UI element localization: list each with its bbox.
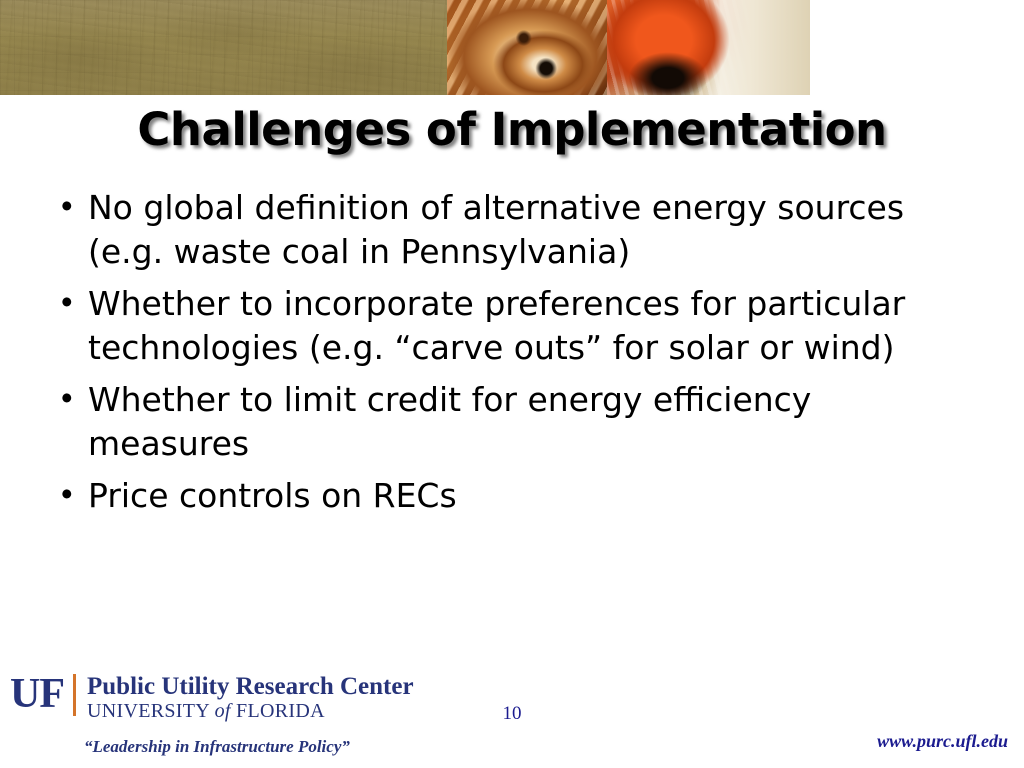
bullet-text: Price controls on RECs — [88, 474, 918, 518]
bullet-text: Whether to incorporate preferences for p… — [88, 282, 918, 370]
orange-drum-photo — [607, 0, 810, 95]
list-item: • Price controls on RECs — [55, 474, 955, 518]
bullet-marker-icon: • — [55, 378, 88, 418]
page-number: 10 — [0, 703, 1024, 725]
list-item: • Whether to incorporate preferences for… — [55, 282, 955, 370]
list-item: • Whether to limit credit for energy eff… — [55, 378, 955, 466]
slide-title: Challenges of Implementation — [0, 103, 1024, 156]
footer-tagline: “Leadership in Infrastructure Policy” — [84, 737, 350, 757]
world-map-texture — [0, 0, 447, 95]
bullet-marker-icon: • — [55, 186, 88, 226]
industrial-coil-photo — [447, 0, 607, 95]
header-banner — [0, 0, 1024, 95]
footer-url[interactable]: www.purc.ufl.edu — [877, 731, 1008, 752]
phone-keypad-photo — [810, 0, 1024, 95]
org-name: Public Utility Research Center — [87, 673, 414, 700]
list-item: • No global definition of alternative en… — [55, 186, 955, 274]
bullet-text: Whether to limit credit for energy effic… — [88, 378, 918, 466]
bullet-marker-icon: • — [55, 282, 88, 322]
bullet-list: • No global definition of alternative en… — [55, 186, 955, 526]
bullet-marker-icon: • — [55, 474, 88, 514]
bullet-text: No global definition of alternative ener… — [88, 186, 918, 274]
